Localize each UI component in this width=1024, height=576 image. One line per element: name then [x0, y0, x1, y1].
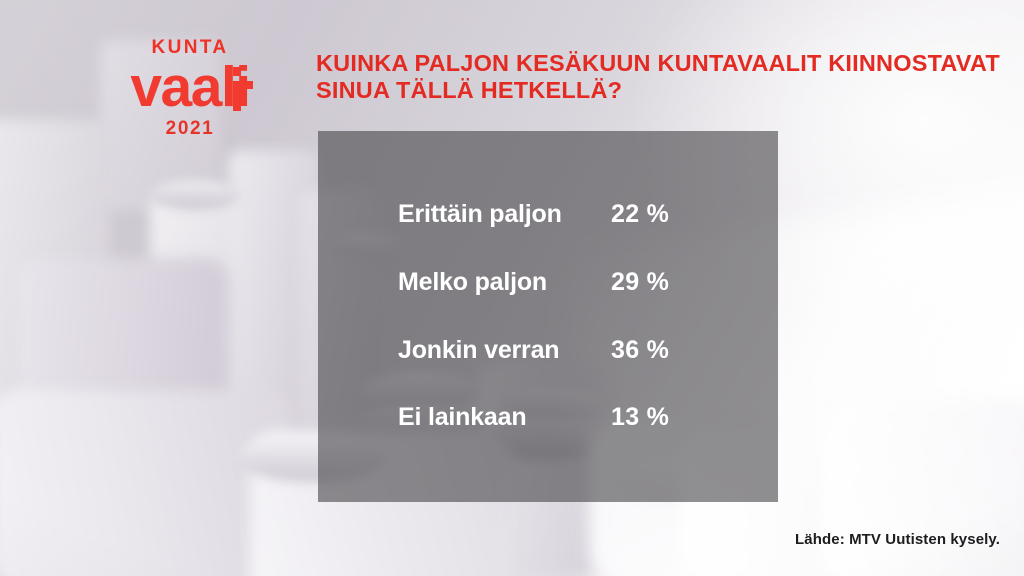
logo-year: 2021 [100, 119, 280, 138]
headline-line-2: SINUA TÄLLÄ HETKELLÄ? [316, 77, 1016, 104]
infographic-stage: KUNTA vaali 2021 KUINKA PALJON KESÄKUUN … [0, 0, 1024, 576]
result-value: 29 % [611, 268, 669, 297]
result-label: Ei lainkaan [398, 403, 611, 432]
list-item: Erittäin paljon 22 % [398, 194, 778, 234]
list-item: Ei lainkaan 13 % [398, 397, 778, 437]
logo-wordmark: vaali [130, 61, 249, 113]
result-value: 13 % [611, 403, 669, 432]
page-title: KUINKA PALJON KESÄKUUN KUNTAVAALIT KIINN… [316, 50, 1016, 104]
kuntavaalit-logo: KUNTA vaali 2021 [100, 38, 280, 138]
list-item: Jonkin verran 36 % [398, 330, 778, 370]
result-value: 22 % [611, 200, 669, 229]
result-label: Erittäin paljon [398, 200, 611, 229]
headline-line-1: KUINKA PALJON KESÄKUUN KUNTAVAALIT KIINN… [316, 50, 1016, 77]
result-label: Melko paljon [398, 268, 611, 297]
result-label: Jonkin verran [398, 336, 611, 365]
source-attribution: Lähde: MTV Uutisten kysely. [795, 531, 1000, 548]
list-item: Melko paljon 29 % [398, 262, 778, 302]
results-list: Erittäin paljon 22 % Melko paljon 29 % J… [318, 131, 778, 502]
result-value: 36 % [611, 336, 669, 365]
stylized-t-mark-icon [233, 67, 253, 111]
